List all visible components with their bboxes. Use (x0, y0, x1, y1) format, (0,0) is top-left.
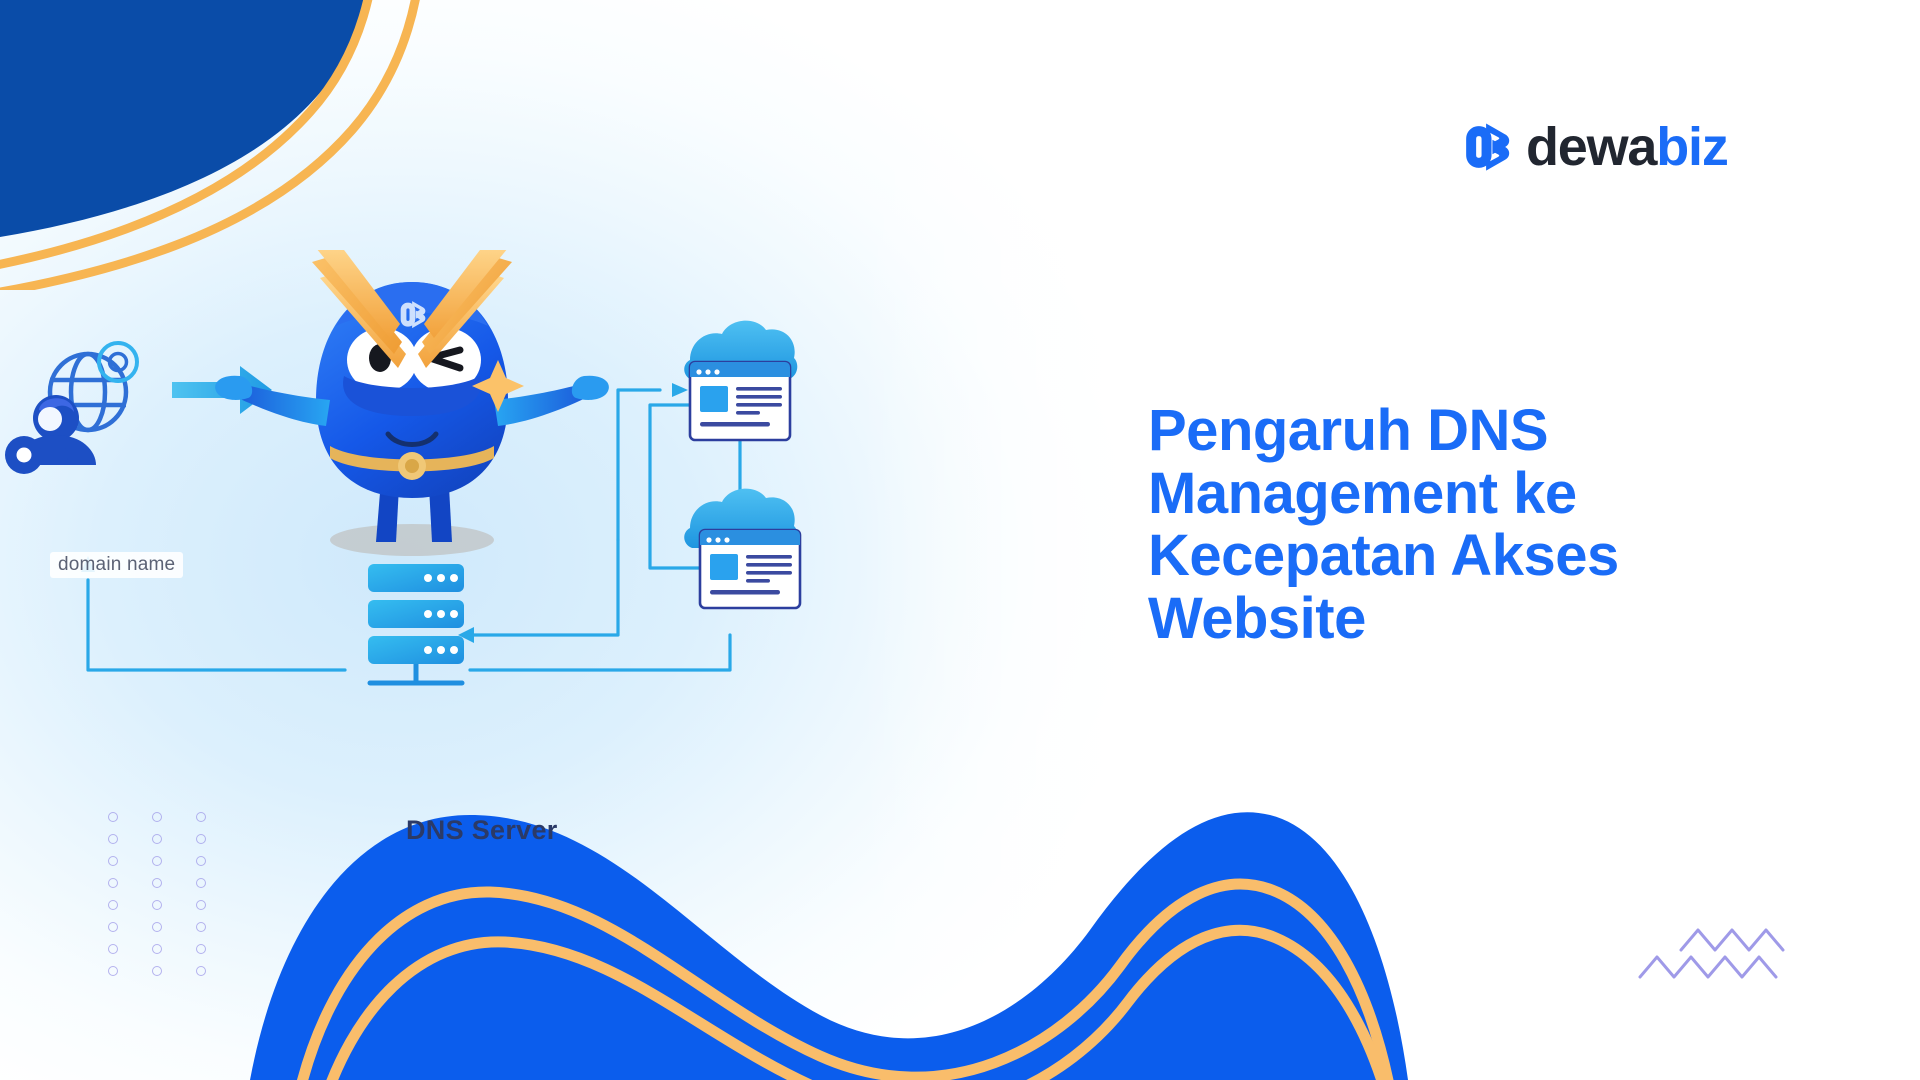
dewabiz-mascot (215, 250, 609, 556)
user-with-globe-icon (5, 343, 137, 474)
dot (152, 966, 162, 976)
dot (196, 966, 206, 976)
dot (196, 856, 206, 866)
dot (196, 944, 206, 954)
dot (108, 878, 118, 888)
dewabiz-hexagon-logo-icon (1458, 118, 1516, 176)
dot (108, 966, 118, 976)
brand-logo[interactable]: dewabiz (1458, 118, 1728, 176)
dot (196, 878, 206, 888)
page-title: Pengaruh DNS Management ke Kecepatan Aks… (1148, 400, 1768, 651)
zigzag-lines-decor (1636, 922, 1846, 992)
dns-server-stack-icon (368, 564, 464, 683)
domain-name-label: domain name (50, 552, 183, 578)
dot (108, 856, 118, 866)
brand-name-dark: dewa (1526, 117, 1656, 177)
dot (108, 922, 118, 932)
dot (152, 856, 162, 866)
dot (152, 944, 162, 954)
dns-server-label: DNS Server (406, 815, 558, 846)
dot (108, 944, 118, 954)
cover-canvas: dewabiz Pengaruh DNS Management ke Kecep… (0, 0, 1920, 1080)
dot (196, 922, 206, 932)
arrowhead-to-top-site (672, 383, 688, 397)
brand-logo-text: dewabiz (1526, 120, 1728, 174)
dot (152, 900, 162, 910)
dot (152, 878, 162, 888)
dns-flow-illustration (0, 250, 1010, 850)
cloud-website-window-bottom (684, 489, 800, 608)
corner-blob-shape (0, 0, 480, 290)
brand-name-accent: biz (1656, 117, 1727, 177)
cloud-website-window-top (684, 321, 797, 440)
dot (152, 922, 162, 932)
dot (196, 900, 206, 910)
dot (108, 900, 118, 910)
